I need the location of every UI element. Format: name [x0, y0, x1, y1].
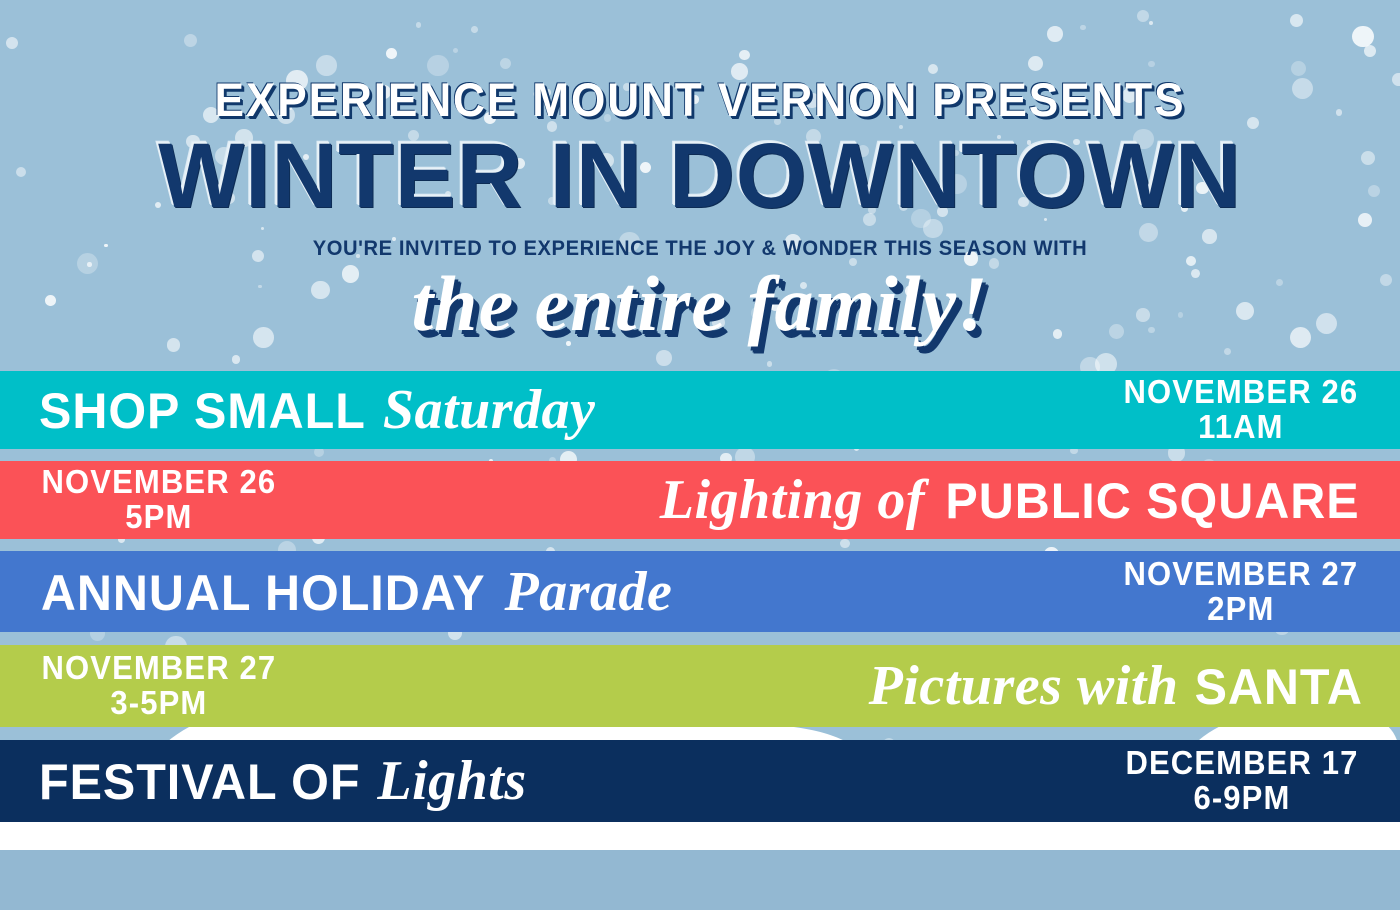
winter-in-downtown-poster: EXPERIENCE MOUNT VERNON PRESENTS WINTER …: [0, 0, 1400, 910]
event-title-script: Lighting of: [660, 468, 925, 532]
event-date-time: 11AM: [1124, 410, 1359, 445]
event-date: NOVEMBER 27 3-5PM: [41, 651, 276, 721]
event-date-time: 2PM: [1124, 592, 1359, 627]
event-band-annual-holiday-parade: ANNUAL HOLIDAY Parade NOVEMBER 27 2PM: [0, 551, 1400, 632]
event-title: SHOP SMALL Saturday: [34, 378, 595, 442]
event-title-block: FESTIVAL OF: [39, 753, 360, 811]
poster-header: EXPERIENCE MOUNT VERNON PRESENTS WINTER …: [0, 0, 1400, 349]
invitation-line: YOU'RE INVITED TO EXPERIENCE THE JOY & W…: [28, 237, 1372, 261]
event-band-pictures-with-santa: Pictures with SANTA NOVEMBER 27 3-5PM: [0, 645, 1400, 727]
snow-dot: [840, 539, 849, 548]
bottom-blue-strip: [0, 850, 1400, 910]
event-date-day: DECEMBER 17: [1126, 746, 1359, 781]
event-date-day: NOVEMBER 27: [41, 651, 276, 686]
event-date: NOVEMBER 27 2PM: [1124, 557, 1359, 627]
event-title: Pictures with SANTA: [869, 654, 1366, 718]
event-band-festival-of-lights: FESTIVAL OF Lights DECEMBER 17 6-9PM: [0, 740, 1400, 822]
bottom-white-strip: [0, 822, 1400, 850]
event-band-lighting-of-public-square: Lighting of PUBLIC SQUARE NOVEMBER 26 5P…: [0, 461, 1400, 539]
event-date-time: 3-5PM: [41, 686, 276, 721]
event-title-script: Pictures with: [869, 654, 1179, 718]
event-title-script: Lights: [377, 749, 526, 813]
event-date: NOVEMBER 26 5PM: [41, 465, 276, 535]
event-title-block: PUBLIC SQUARE: [945, 472, 1359, 530]
snow-dot: [656, 350, 672, 366]
event-title: Lighting of PUBLIC SQUARE: [660, 468, 1366, 532]
event-title-block: ANNUAL HOLIDAY: [41, 564, 486, 622]
event-date: DECEMBER 17 6-9PM: [1126, 746, 1359, 816]
event-date-day: NOVEMBER 26: [1124, 375, 1359, 410]
event-date: NOVEMBER 26 11AM: [1124, 375, 1359, 445]
event-date-time: 5PM: [41, 500, 276, 535]
event-band-shop-small-saturday: SHOP SMALL Saturday NOVEMBER 26 11AM: [0, 371, 1400, 449]
event-title: FESTIVAL OF Lights: [34, 749, 527, 813]
event-title-script: Parade: [504, 560, 672, 624]
page-title: WINTER IN DOWNTOWN: [7, 131, 1393, 221]
event-date-day: NOVEMBER 27: [1124, 557, 1359, 592]
event-date-day: NOVEMBER 26: [41, 465, 276, 500]
event-title: ANNUAL HOLIDAY Parade: [34, 560, 672, 624]
presents-line: EXPERIENCE MOUNT VERNON PRESENTS: [42, 72, 1358, 127]
snow-dot: [1342, 728, 1353, 739]
event-title-script: Saturday: [383, 378, 596, 442]
event-date-time: 6-9PM: [1126, 781, 1359, 816]
event-title-block: SANTA: [1195, 658, 1363, 716]
snow-dot: [767, 361, 772, 366]
snow-dot: [232, 355, 241, 364]
family-script-line: the entire family!: [0, 259, 1400, 349]
event-title-block: SHOP SMALL: [39, 382, 366, 440]
